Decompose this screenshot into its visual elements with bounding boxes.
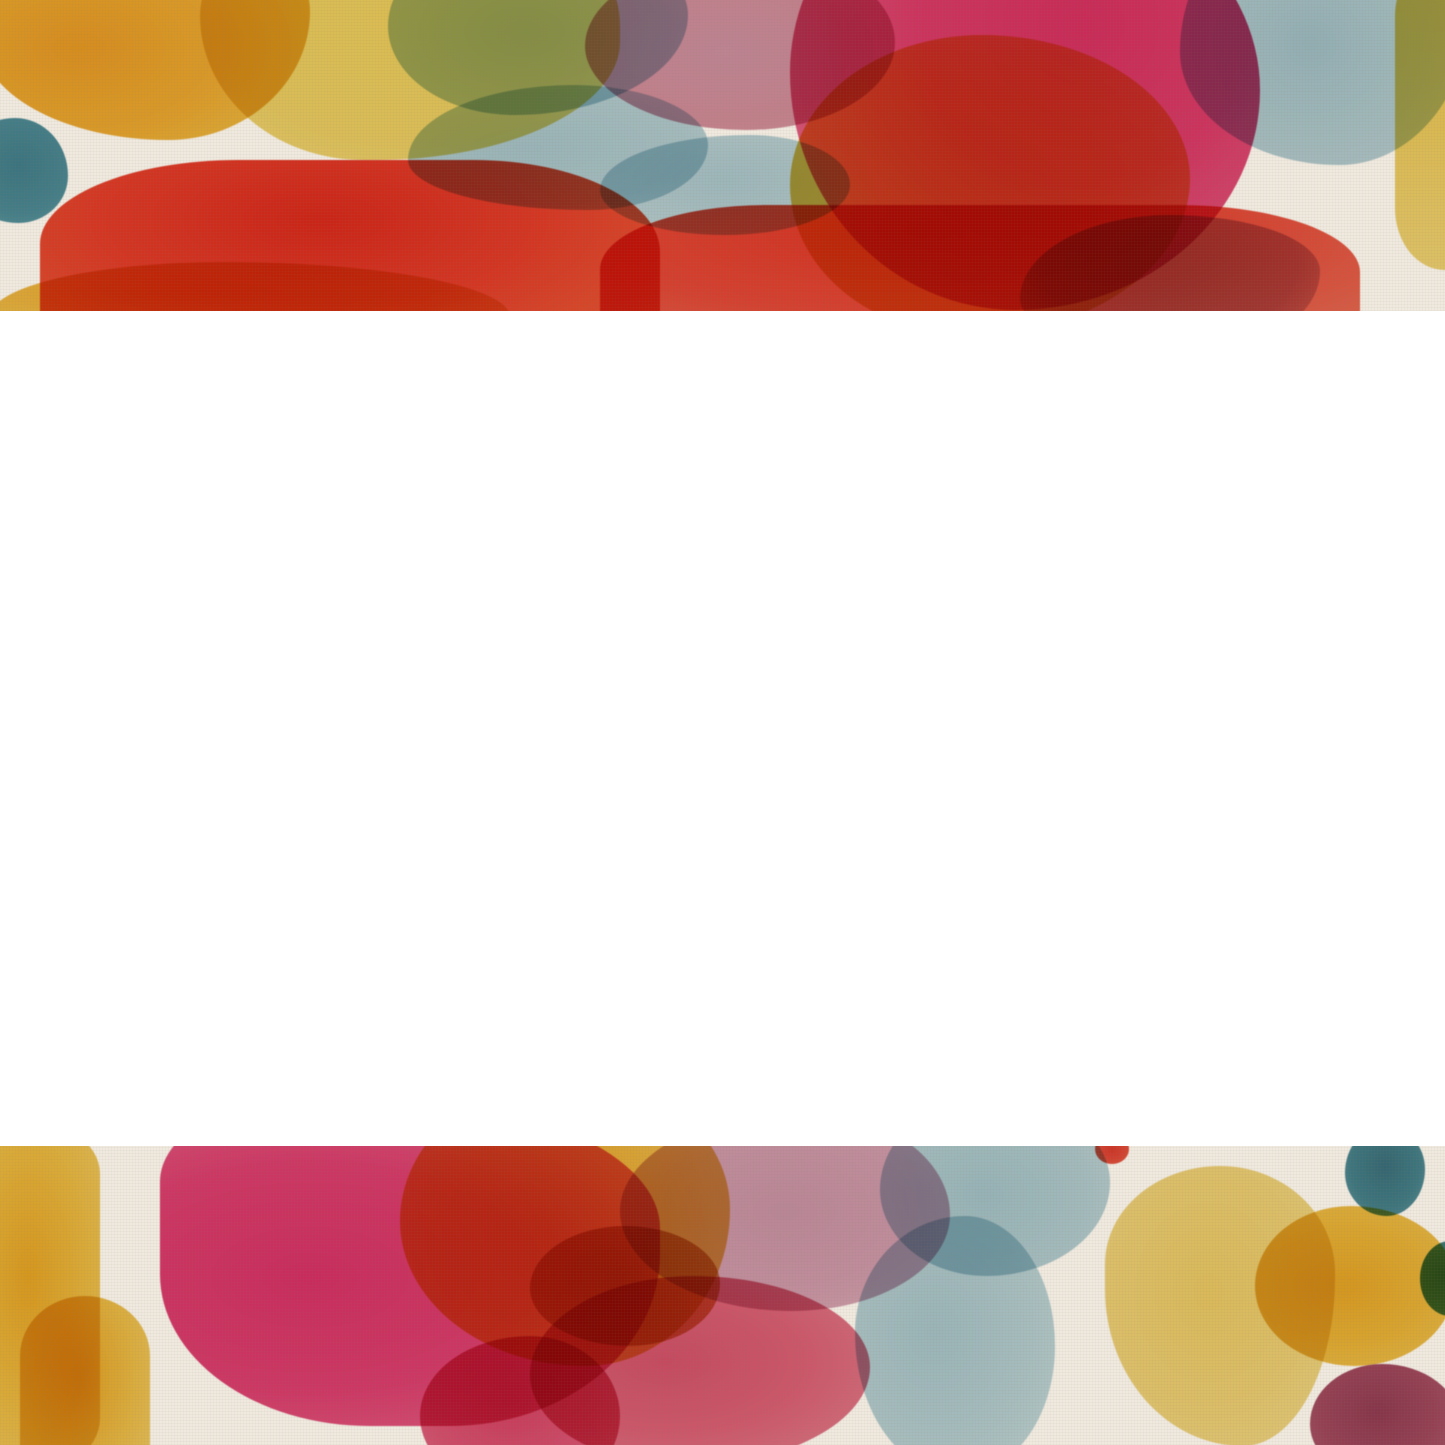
watercolor-blob-gold-right-arm <box>1255 1206 1445 1366</box>
watercolor-blob-red-bottom-right <box>600 205 1360 311</box>
watercolor-band-bottom <box>0 1146 1445 1445</box>
poster-canvas: 5 CREATIVITY MEDITATIONS VISUALIZING YOU… <box>0 0 1445 1445</box>
watercolor-blob-yellow-faredge <box>1395 0 1445 270</box>
watercolor-band-top <box>0 0 1445 311</box>
watercolor-blob-teal-left <box>0 118 68 223</box>
watercolor-blob-burnt-orange <box>530 1226 720 1346</box>
content-panel <box>0 311 1445 1146</box>
watercolor-blob-burgundy-bottomright <box>1310 1364 1445 1445</box>
watercolor-blob-gold-left-lower <box>20 1296 150 1445</box>
